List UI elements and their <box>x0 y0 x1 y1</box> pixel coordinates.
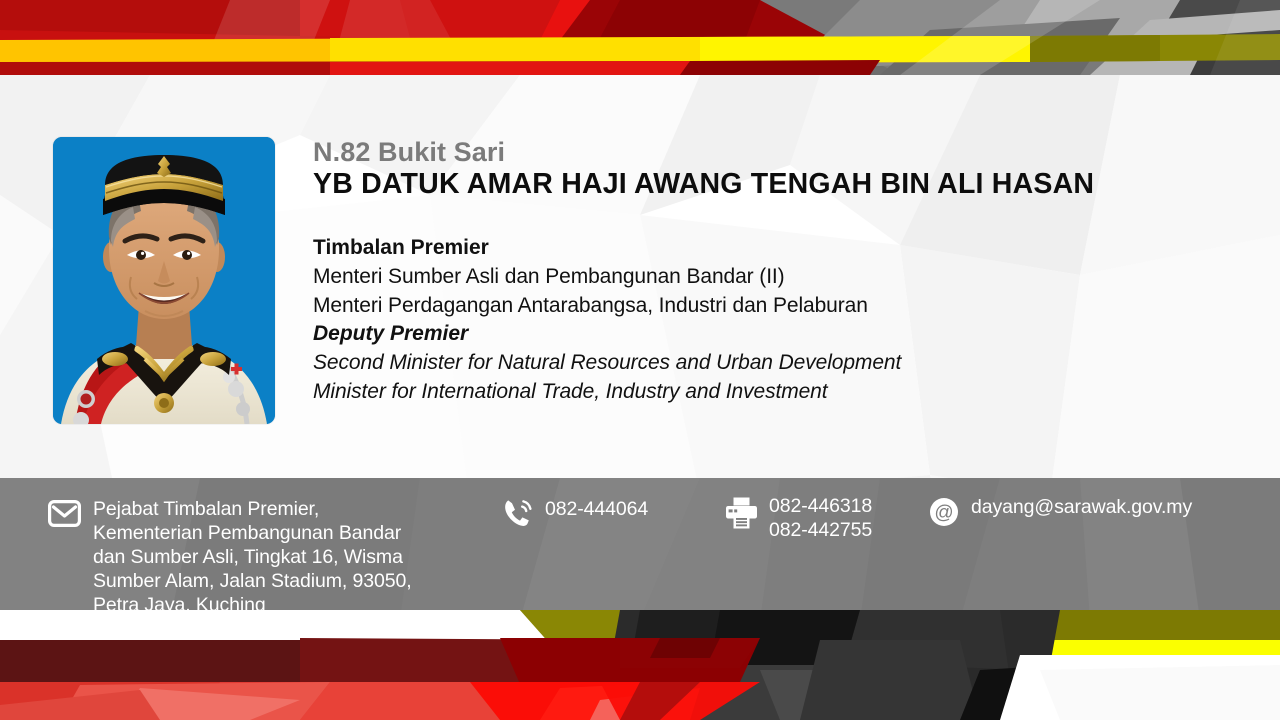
address-text: Pejabat Timbalan Premier, Kementerian Pe… <box>93 497 412 617</box>
role-line1-english: Second Minister for Natural Resources an… <box>313 349 1233 378</box>
role-title-malay: Timbalan Premier <box>313 234 1233 263</box>
bottom-decorative-banner <box>0 610 1280 720</box>
email-text: dayang@sarawak.gov.my <box>971 495 1192 519</box>
contact-email: @ dayang@sarawak.gov.my <box>929 495 1192 527</box>
contact-fax: 082-446318 082-442755 <box>725 494 872 542</box>
roles-block: Timbalan Premier Menteri Sumber Asli dan… <box>313 234 1233 407</box>
header-text-block: N.82 Bukit Sari YB DATUK AMAR HAJI AWANG… <box>313 138 1213 201</box>
constituency-label: N.82 Bukit Sari <box>313 138 1213 166</box>
svg-text:@: @ <box>934 503 953 524</box>
contact-phone: 082-444064 <box>503 497 648 528</box>
phone-icon <box>503 498 534 528</box>
top-decorative-banner <box>0 0 1280 75</box>
role-line1-malay: Menteri Sumber Asli dan Pembangunan Band… <box>313 263 1233 292</box>
phone-text: 082-444064 <box>545 497 648 521</box>
envelope-icon <box>48 500 81 527</box>
at-sign-icon: @ <box>929 497 959 527</box>
top-banner-graphic <box>0 0 1280 75</box>
profile-card-slide: N.82 Bukit Sari YB DATUK AMAR HAJI AWANG… <box>0 0 1280 720</box>
portrait-photo <box>53 137 275 424</box>
bottom-banner-graphic <box>0 610 1280 720</box>
role-line2-malay: Menteri Perdagangan Antarabangsa, Indust… <box>313 292 1233 321</box>
person-name: YB DATUK AMAR HAJI AWANG TENGAH BIN ALI … <box>313 169 1213 200</box>
portrait-illustration <box>53 137 275 424</box>
contact-address: Pejabat Timbalan Premier, Kementerian Pe… <box>48 497 412 617</box>
role-line2-english: Minister for International Trade, Indust… <box>313 378 1233 407</box>
fax-text: 082-446318 082-442755 <box>769 494 872 542</box>
printer-icon <box>725 497 758 529</box>
role-title-english: Deputy Premier <box>313 320 1233 349</box>
